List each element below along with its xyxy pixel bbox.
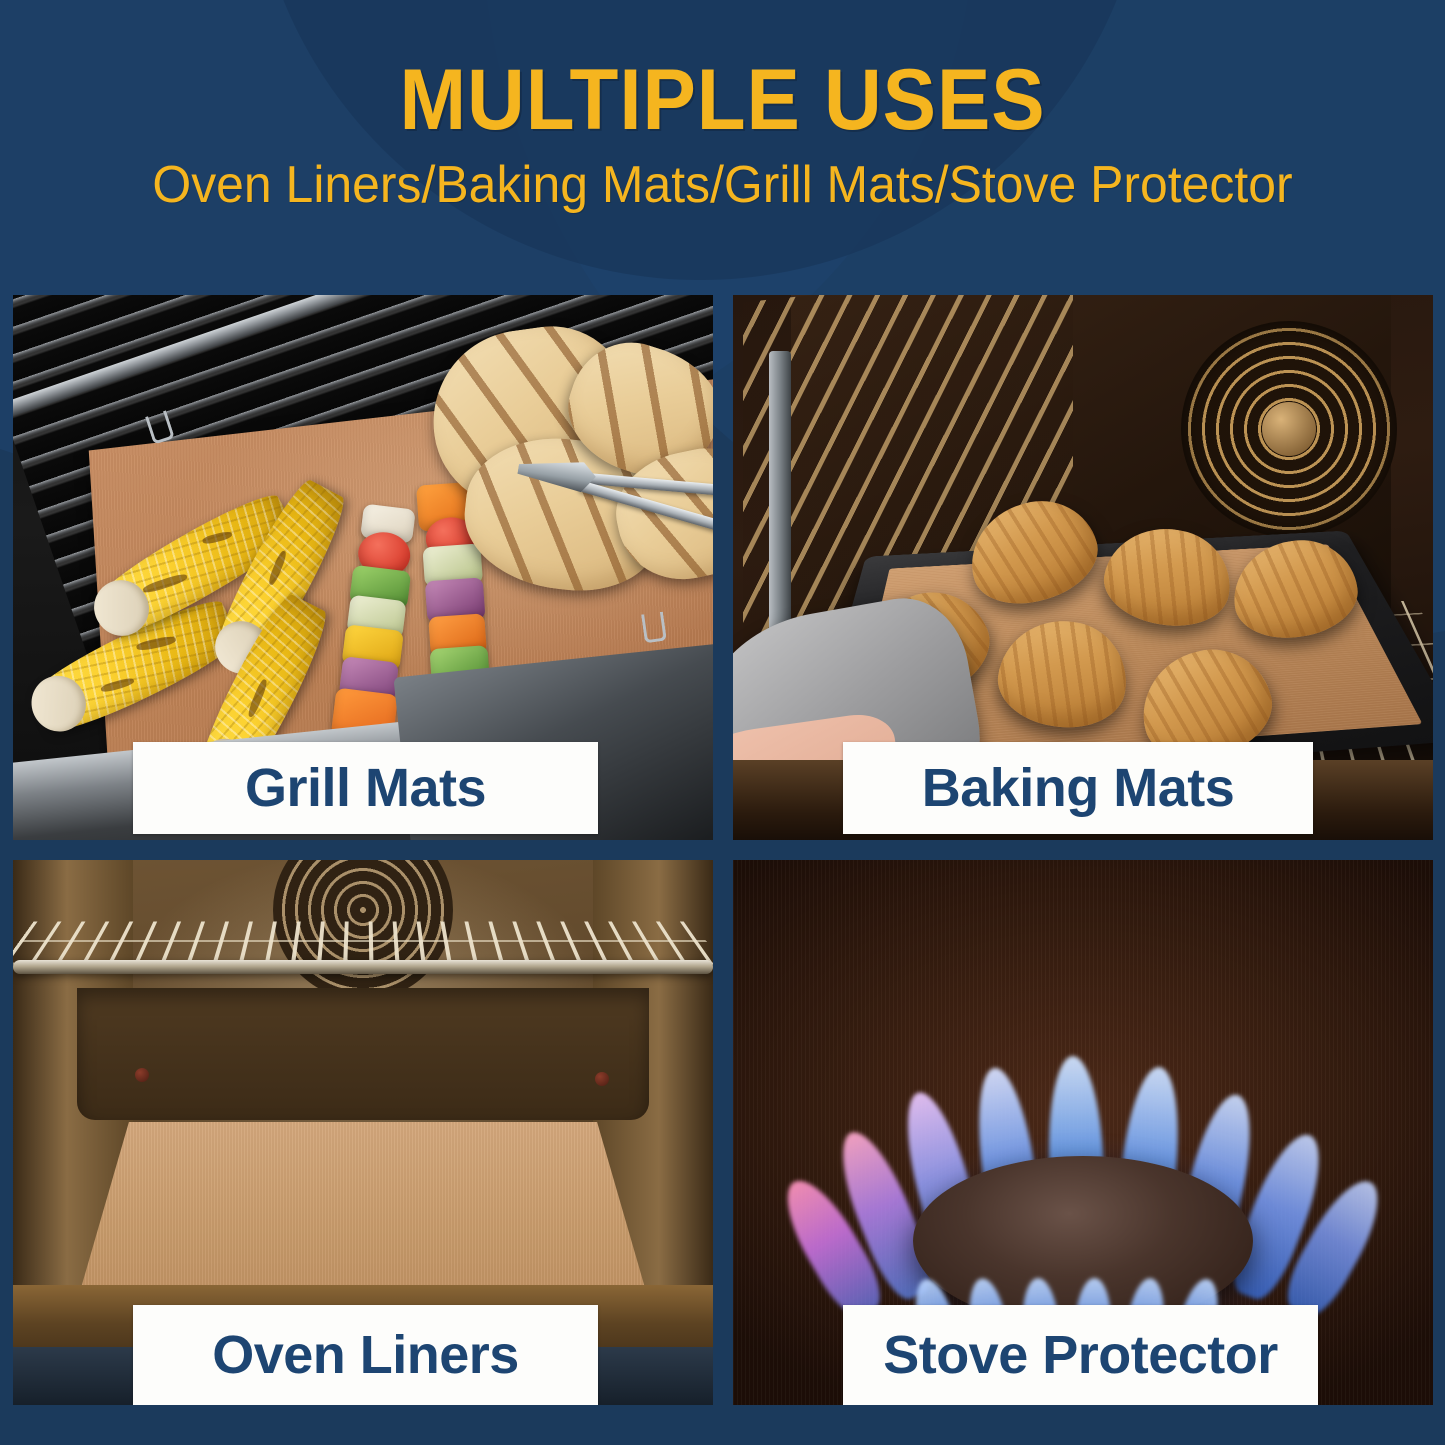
header: MULTIPLE USES Oven Liners/Baking Mats/Gr… <box>0 0 1445 292</box>
grill-mark <box>100 677 135 694</box>
use-case-grid: Grill Mats Baking Mats <box>13 295 1432 1412</box>
page-subtitle: Oven Liners/Baking Mats/Grill Mats/Stove… <box>29 142 1416 212</box>
mat-clip <box>641 612 667 644</box>
grill-mark <box>142 572 189 595</box>
grill-mark <box>202 531 233 546</box>
panel-stove-protector: Stove Protector <box>733 860 1433 1405</box>
convection-fan <box>1181 321 1397 537</box>
oven-panel-screw <box>595 1072 609 1086</box>
grill-mark <box>267 550 288 586</box>
grill-mark <box>246 678 268 718</box>
corn-tip <box>22 666 96 741</box>
panel-label-text: Grill Mats <box>245 757 486 819</box>
oven-wire-rack <box>13 921 713 964</box>
panel-grill-mats: Grill Mats <box>13 295 713 840</box>
panel-label-oven-liners: Oven Liners <box>133 1305 598 1405</box>
panel-oven-liners: Oven Liners <box>13 860 713 1405</box>
grill-mark <box>136 635 177 652</box>
panel-label-baking-mats: Baking Mats <box>843 742 1313 834</box>
oven-rack-rail <box>769 351 791 651</box>
page-title: MULTIPLE USES <box>51 0 1395 142</box>
panel-label-text: Baking Mats <box>922 757 1235 819</box>
panel-label-stove-protector: Stove Protector <box>843 1305 1318 1405</box>
panel-label-grill-mats: Grill Mats <box>133 742 598 834</box>
panel-label-text: Stove Protector <box>883 1324 1278 1386</box>
panel-label-text: Oven Liners <box>212 1324 519 1386</box>
oven-panel-screw <box>135 1068 149 1082</box>
fan-hub <box>1262 402 1316 456</box>
oven-back-panel <box>77 988 649 1120</box>
oven-rack-front-lip <box>13 960 713 974</box>
panel-baking-mats: Baking Mats <box>733 295 1433 840</box>
